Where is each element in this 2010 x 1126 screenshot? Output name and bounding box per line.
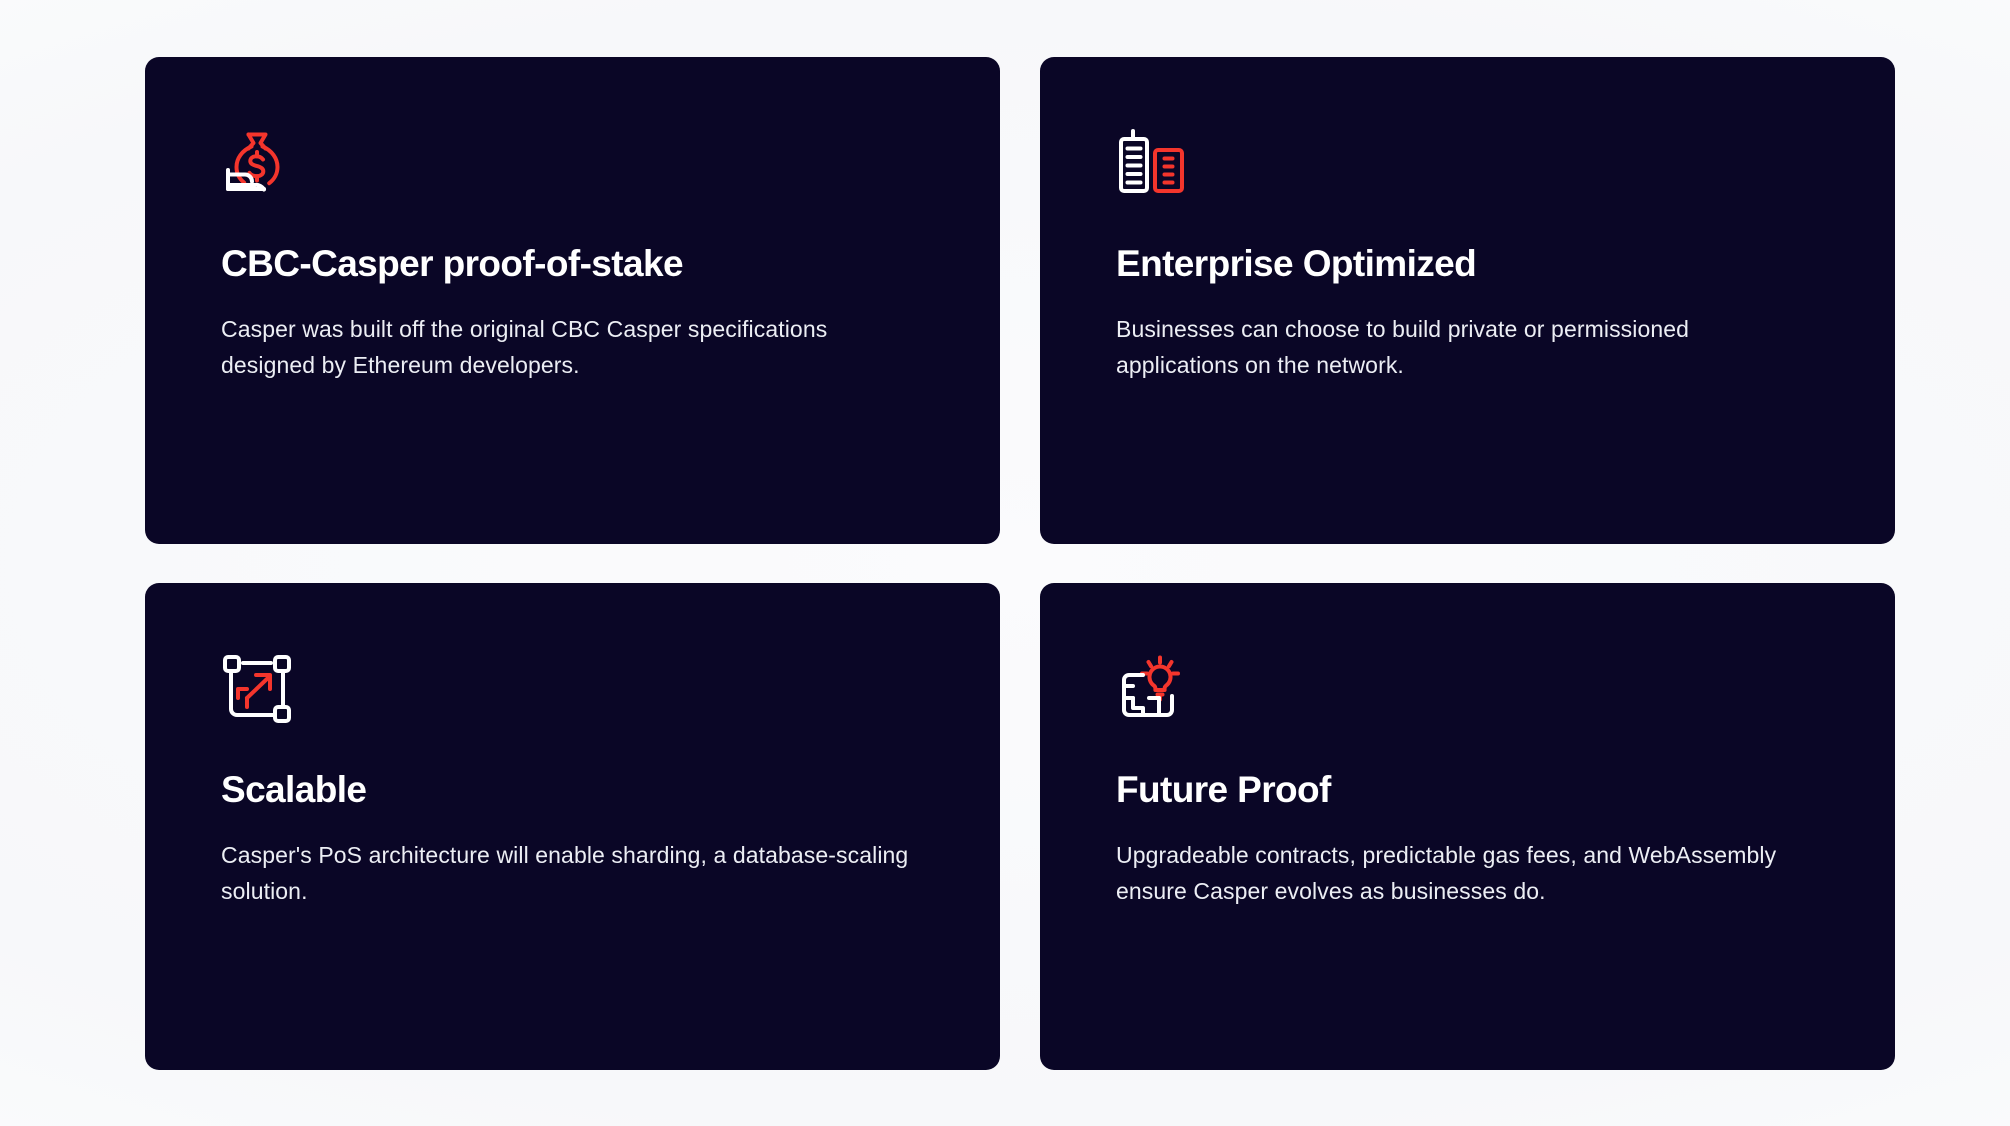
scale-expand-icon	[221, 653, 293, 725]
blueprint-lightbulb-icon	[1116, 653, 1188, 725]
card-title: Enterprise Optimized	[1116, 243, 1819, 284]
office-buildings-icon	[1116, 127, 1188, 199]
card-title: CBC-Casper proof-of-stake	[221, 243, 924, 284]
feature-card-enterprise-optimized[interactable]: Enterprise Optimized Businesses can choo…	[1040, 57, 1895, 544]
card-body: Upgradeable contracts, predictable gas f…	[1116, 838, 1806, 909]
card-body: Casper's PoS architecture will enable sh…	[221, 838, 911, 909]
card-title: Future Proof	[1116, 769, 1819, 810]
feature-card-cbc-casper[interactable]: CBC-Casper proof-of-stake Casper was bui…	[145, 57, 1000, 544]
money-bag-icon	[221, 127, 293, 199]
feature-card-future-proof[interactable]: Future Proof Upgradeable contracts, pred…	[1040, 583, 1895, 1070]
feature-cards-section: CBC-Casper proof-of-stake Casper was bui…	[0, 0, 2010, 1126]
feature-card-scalable[interactable]: Scalable Casper's PoS architecture will …	[145, 583, 1000, 1070]
feature-card-grid: CBC-Casper proof-of-stake Casper was bui…	[145, 57, 1870, 1070]
card-body: Businesses can choose to build private o…	[1116, 312, 1806, 383]
card-title: Scalable	[221, 769, 924, 810]
card-body: Casper was built off the original CBC Ca…	[221, 312, 911, 383]
